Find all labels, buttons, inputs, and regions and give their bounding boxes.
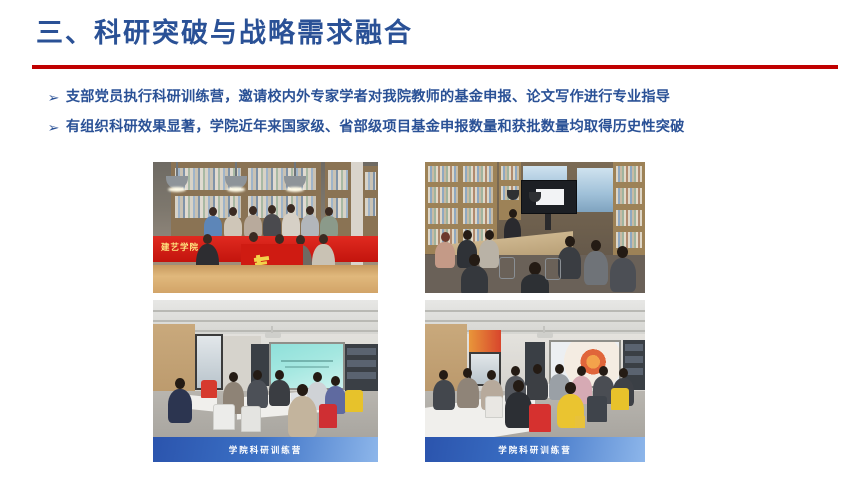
arrow-bullet-icon: ➢: [47, 118, 59, 137]
photo-caption-bottom-left: 学院科研训练营: [153, 437, 378, 462]
photo-top-right: [425, 162, 645, 293]
photo-banner-text: 建艺学院: [161, 241, 199, 253]
list-item: ➢ 支部党员执行科研训练营，邀请校内外专家学者对我院教师的基金申报、论文写作进行…: [48, 88, 838, 107]
photo-top-left: 建艺学院: [153, 162, 378, 293]
photo-bottom-left: [153, 300, 378, 437]
photo-scene: [425, 300, 645, 437]
caption-text: 学院科研训练营: [229, 444, 303, 456]
list-item: ➢ 有组织科研效果显著，学院近年来国家级、省部级项目基金申报数量和获批数量均取得…: [48, 118, 838, 137]
bullet-text: 支部党员执行科研训练营，邀请校内外专家学者对我院教师的基金申报、论文写作进行专业…: [66, 88, 670, 107]
page-title: 三、科研突破与战略需求融合: [36, 16, 413, 50]
arrow-bullet-icon: ➢: [47, 88, 59, 107]
photo-scene: [425, 162, 645, 293]
photo-scene: [153, 300, 378, 437]
photo-bottom-right: [425, 300, 645, 437]
caption-text: 学院科研训练营: [498, 444, 572, 456]
bullet-list: ➢ 支部党员执行科研训练营，邀请校内外专家学者对我院教师的基金申报、论文写作进行…: [48, 88, 838, 148]
photo-scene: 建艺学院: [153, 162, 378, 293]
slide-canvas: 三、科研突破与战略需求融合 ➢ 支部党员执行科研训练营，邀请校内外专家学者对我院…: [0, 0, 868, 485]
bullet-text: 有组织科研效果显著，学院近年来国家级、省部级项目基金申报数量和获批数量均取得历史…: [66, 118, 685, 137]
title-divider-rule: [32, 65, 838, 69]
photo-caption-bottom-right: 学院科研训练营: [425, 437, 645, 462]
